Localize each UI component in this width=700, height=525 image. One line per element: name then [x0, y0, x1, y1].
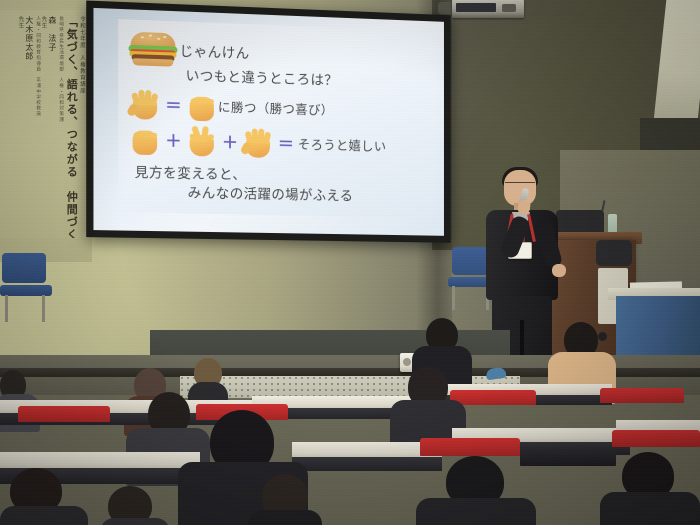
- slide-operator-plus-1: ＋: [165, 127, 181, 152]
- audience-member: [100, 486, 170, 525]
- presenter-hand-right: [552, 264, 566, 277]
- audience-body: [248, 510, 322, 525]
- banner-org-1: 長崎県県民生活環境部 人権・同和対策課: [58, 16, 63, 238]
- banner-speaker-name-1: 森 法子: [47, 16, 55, 238]
- seat-backrest: [420, 438, 520, 456]
- banner-subtitle: 令和七年度 人権教育講座: [78, 16, 84, 238]
- banner-org-2: 人権・同和教育指導員 平浦中学校教諭: [35, 16, 40, 238]
- projection-screen: じゃんけん いつもと違うところは？ ＝: [86, 0, 450, 242]
- slide-line-3-text: に勝つ（勝つ喜び）: [218, 96, 333, 118]
- audience-member: [416, 456, 536, 525]
- hand-paper-icon: [130, 86, 161, 119]
- blue-chair-left: [0, 253, 52, 323]
- audience-member: [248, 474, 322, 525]
- slide-operator-equals: ＝: [165, 92, 181, 117]
- audience-body: [600, 492, 700, 525]
- slide-line-2: いつもと違うところは？: [186, 64, 338, 89]
- seat-backrest: [18, 406, 110, 422]
- wall-device-icon: [452, 0, 524, 18]
- audience-member: [0, 468, 88, 525]
- slide-line-6: みんなの活躍の場がふえる: [188, 181, 354, 204]
- audience-body: [0, 506, 88, 525]
- lecture-hall-photo: 令和七年度 人権教育講座 「気づく、語れる、つながる 仲間づくり」 長崎県県民生…: [0, 0, 700, 525]
- banner-speaker-name-2: 大木原太郎: [25, 16, 33, 238]
- seat-backrest: [612, 430, 700, 447]
- presentation-slide: じゃんけん いつもと違うところは？ ＝: [118, 19, 436, 218]
- hamburger-icon: [128, 32, 177, 66]
- hand-rock-icon: [187, 88, 217, 121]
- hand-scissors-icon: [187, 124, 217, 157]
- slide-operator-equals-2: ＝: [278, 130, 294, 154]
- audience-member: [600, 452, 700, 525]
- seat-backrest: [600, 388, 684, 403]
- banner-title: 「気づく、語れる、つながる 仲間づくり」: [66, 16, 78, 238]
- glasses-icon: [505, 182, 535, 189]
- lecture-desk: [0, 452, 200, 469]
- hand-paper-icon-2: [243, 125, 273, 158]
- slide-line-1: じゃんけん: [180, 40, 250, 63]
- slide-operator-plus-2: ＋: [222, 129, 238, 154]
- slide-line-4-text: そろうと嬉しい: [298, 133, 387, 154]
- hand-rock-icon-2: [130, 122, 161, 155]
- slide-line-5: 見方を変えると、: [135, 161, 247, 184]
- audience-body: [100, 518, 170, 525]
- event-banner: 令和七年度 人権教育講座 「気づく、語れる、つながる 仲間づくり」 長崎県県民生…: [0, 10, 88, 238]
- banner-honorific-2: 先生: [17, 16, 23, 238]
- audience-body: [416, 498, 536, 525]
- screen-surface: じゃんけん いつもと違うところは？ ＝: [93, 8, 444, 236]
